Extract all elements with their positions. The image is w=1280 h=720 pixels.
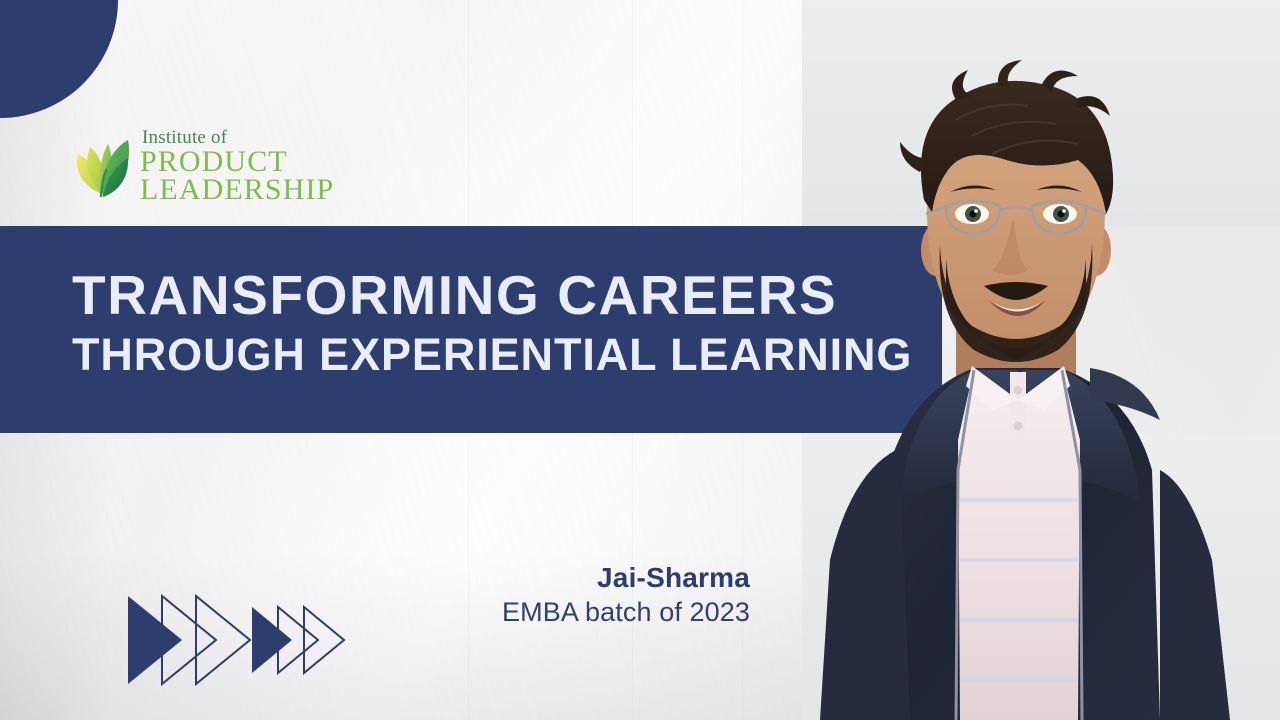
speaker-caption: Jai-Sharma EMBA batch of 2023	[380, 562, 750, 629]
speaker-name: Jai-Sharma	[380, 562, 750, 594]
leaf-logo-icon	[72, 134, 134, 202]
logo-leadership-label: LEADERSHIP	[140, 176, 334, 204]
triple-chevron-arrows	[118, 588, 358, 688]
speaker-portrait-image	[760, 0, 1280, 720]
speaker-subtitle: EMBA batch of 2023	[380, 596, 750, 628]
chevron-arrows-icon	[118, 588, 358, 688]
institute-of-product-leadership-logo: Institute of PRODUCT LEADERSHIP	[72, 128, 334, 204]
logo-product-label: PRODUCT	[140, 148, 334, 176]
speaker-portrait	[760, 0, 1280, 720]
logo-wordmark: Institute of PRODUCT LEADERSHIP	[140, 128, 334, 204]
slide-canvas: Institute of PRODUCT LEADERSHIP TRANSFOR…	[0, 0, 1280, 720]
